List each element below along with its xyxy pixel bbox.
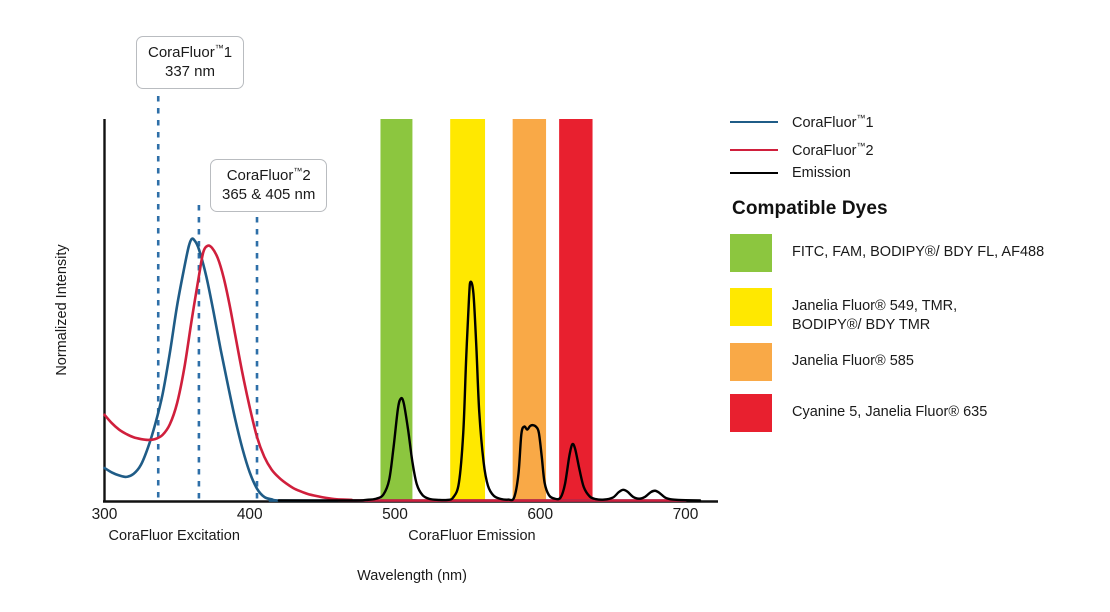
x-axis-title: Wavelength (nm) bbox=[357, 568, 467, 584]
red-band bbox=[559, 119, 592, 501]
callout-corafluor1-title: CoraFluor™1 bbox=[148, 43, 232, 62]
x-tick-500: 500 bbox=[382, 506, 408, 524]
x-axis-sublabel-emission: CoraFluor Emission bbox=[408, 528, 535, 544]
dye-color-swatch bbox=[730, 394, 772, 432]
legend-series-2: Emission bbox=[730, 164, 851, 182]
legend-series-name: Emission bbox=[792, 165, 851, 181]
x-tick-700: 700 bbox=[673, 506, 699, 524]
callout-corafluor1: CoraFluor™1 337 nm bbox=[136, 36, 244, 89]
dye-row: Cyanine 5, Janelia Fluor® 635 bbox=[730, 394, 987, 432]
callout-corafluor1-index: 1 bbox=[224, 44, 232, 61]
legend-series-index: 2 bbox=[865, 143, 873, 159]
dye-color-swatch bbox=[730, 234, 772, 272]
dye-label: Cyanine 5, Janelia Fluor® 635 bbox=[792, 394, 987, 422]
callout-corafluor2: CoraFluor™2 365 & 405 nm bbox=[210, 159, 327, 212]
compatible-dyes-heading: Compatible Dyes bbox=[732, 198, 888, 220]
legend-panel: CoraFluor™1CoraFluor™2Emission Compatibl… bbox=[730, 0, 1110, 612]
x-tick-600: 600 bbox=[527, 506, 553, 524]
dye-label: Janelia Fluor® 549, TMR, BODIPY®/ BDY TM… bbox=[792, 288, 957, 336]
curve-emission bbox=[279, 282, 700, 501]
x-tick-300: 300 bbox=[92, 506, 118, 524]
legend-series-label: Emission bbox=[792, 165, 851, 181]
dye-color-swatch bbox=[730, 343, 772, 381]
legend-series-0: CoraFluor™1 bbox=[730, 113, 874, 131]
spectral-chart-figure: CoraFluor™1 337 nm CoraFluor™2 365 & 405… bbox=[0, 0, 1110, 612]
trademark-icon: ™ bbox=[215, 43, 224, 53]
legend-line-swatch bbox=[730, 121, 778, 123]
dye-row: FITC, FAM, BODIPY®/ BDY FL, AF488 bbox=[730, 234, 1044, 272]
callout-corafluor1-name: CoraFluor bbox=[148, 44, 215, 61]
callout-corafluor2-index: 2 bbox=[302, 167, 310, 184]
green-band bbox=[380, 119, 412, 501]
chart-plot-area: CoraFluor™1 337 nm CoraFluor™2 365 & 405… bbox=[0, 0, 720, 612]
legend-series-1: CoraFluor™2 bbox=[730, 141, 874, 159]
y-axis-title: Normalized Intensity bbox=[54, 244, 70, 375]
legend-series-index: 1 bbox=[865, 115, 873, 131]
callout-corafluor2-value: 365 & 405 nm bbox=[222, 185, 315, 204]
legend-line-swatch bbox=[730, 172, 778, 174]
wavelength-bands-group bbox=[380, 119, 592, 501]
legend-series-label: CoraFluor™2 bbox=[792, 141, 874, 159]
callout-corafluor1-value: 337 nm bbox=[148, 62, 232, 81]
dye-label: FITC, FAM, BODIPY®/ BDY FL, AF488 bbox=[792, 234, 1044, 262]
legend-series-name: CoraFluor bbox=[792, 143, 856, 159]
excitation-marker-lines bbox=[158, 96, 257, 501]
dye-row: Janelia Fluor® 549, TMR, BODIPY®/ BDY TM… bbox=[730, 288, 957, 336]
x-tick-400: 400 bbox=[237, 506, 263, 524]
callout-corafluor2-title: CoraFluor™2 bbox=[222, 166, 315, 185]
legend-series-name: CoraFluor bbox=[792, 115, 856, 131]
dye-row: Janelia Fluor® 585 bbox=[730, 343, 914, 381]
dye-color-swatch bbox=[730, 288, 772, 326]
legend-line-swatch bbox=[730, 149, 778, 151]
callout-corafluor2-name: CoraFluor bbox=[227, 167, 294, 184]
legend-series-label: CoraFluor™1 bbox=[792, 113, 874, 131]
x-axis-sublabel-excitation: CoraFluor Excitation bbox=[109, 528, 240, 544]
dye-label: Janelia Fluor® 585 bbox=[792, 343, 914, 371]
